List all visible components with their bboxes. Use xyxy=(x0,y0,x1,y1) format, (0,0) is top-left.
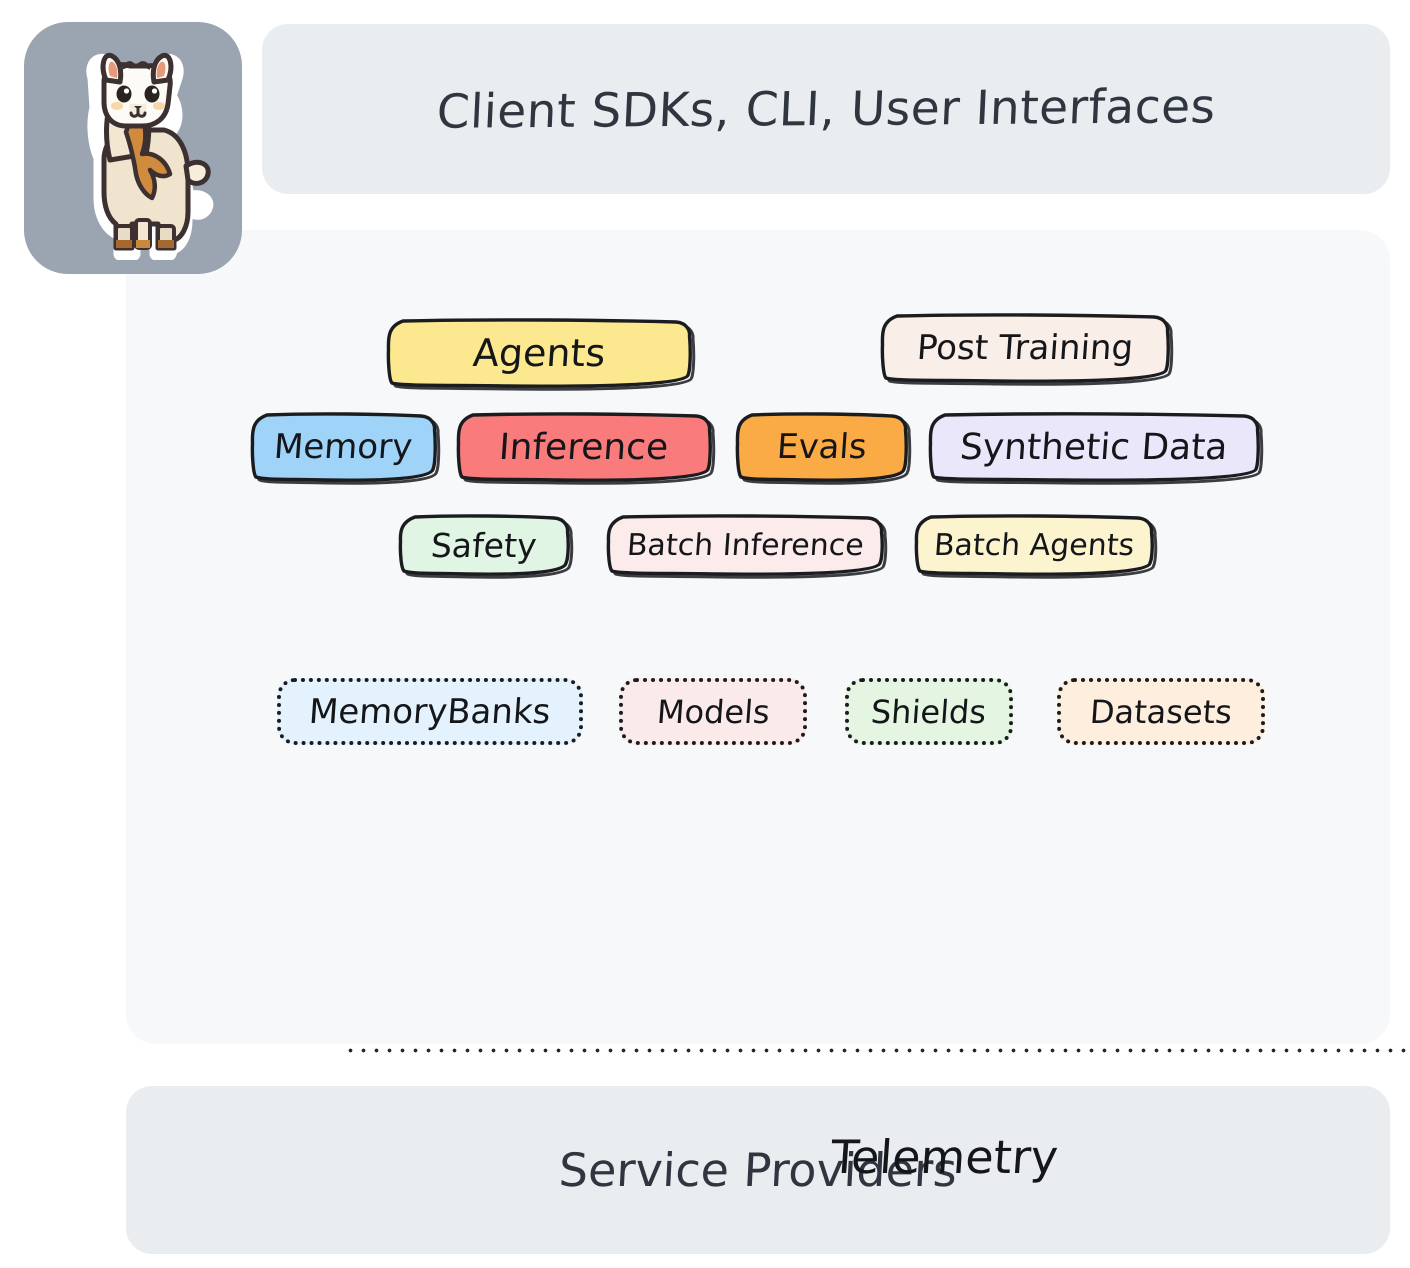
api-box-evals[interactable]: Evals xyxy=(735,412,908,482)
api-box-label: Safety xyxy=(430,526,538,565)
api-box-agents[interactable]: Agents xyxy=(386,318,692,388)
api-box-label: Synthetic Data xyxy=(959,427,1229,468)
section-divider xyxy=(344,1048,1410,1053)
api-box-label: Batch Agents xyxy=(933,528,1136,563)
api-box-memory[interactable]: Memory xyxy=(250,412,437,482)
resource-box-shields[interactable]: Shields xyxy=(845,678,1013,745)
api-box-label: Evals xyxy=(775,427,867,467)
telemetry-label: Telemetry xyxy=(829,1130,1060,1184)
header-title: Client SDKs, CLI, User Interfaces xyxy=(435,79,1216,139)
resource-box-label: Datasets xyxy=(1089,693,1234,731)
resource-box-label: Models xyxy=(655,693,770,731)
api-box-batch-agents[interactable]: Batch Agents xyxy=(914,514,1154,576)
resource-box-label: MemoryBanks xyxy=(308,692,552,732)
api-box-batch-inference[interactable]: Batch Inference xyxy=(606,514,884,576)
api-box-label: Memory xyxy=(273,427,414,467)
llama-logo-icon xyxy=(60,48,220,260)
api-box-synthetic-data[interactable]: Synthetic Data xyxy=(928,412,1260,482)
api-box-post-training[interactable]: Post Training xyxy=(880,313,1170,383)
api-box-label: Inference xyxy=(498,427,670,468)
api-box-label: Batch Inference xyxy=(625,528,864,563)
resource-box-datasets[interactable]: Datasets xyxy=(1057,678,1265,745)
client-interfaces-bar: Client SDKs, CLI, User Interfaces xyxy=(262,24,1390,194)
api-box-label: Agents xyxy=(471,331,606,375)
llama-stack-api-panel: Telemetry AgentsPost TrainingMemoryInfer… xyxy=(126,230,1390,1044)
api-box-safety[interactable]: Safety xyxy=(398,514,570,576)
resource-box-memorybanks[interactable]: MemoryBanks xyxy=(277,678,583,745)
logo-badge xyxy=(24,22,242,274)
resource-box-models[interactable]: Models xyxy=(619,678,807,745)
service-providers-bar: Service Providers xyxy=(126,1086,1390,1254)
api-box-label: Post Training xyxy=(916,328,1135,368)
api-box-inference[interactable]: Inference xyxy=(456,412,712,482)
resource-box-label: Shields xyxy=(870,693,988,731)
